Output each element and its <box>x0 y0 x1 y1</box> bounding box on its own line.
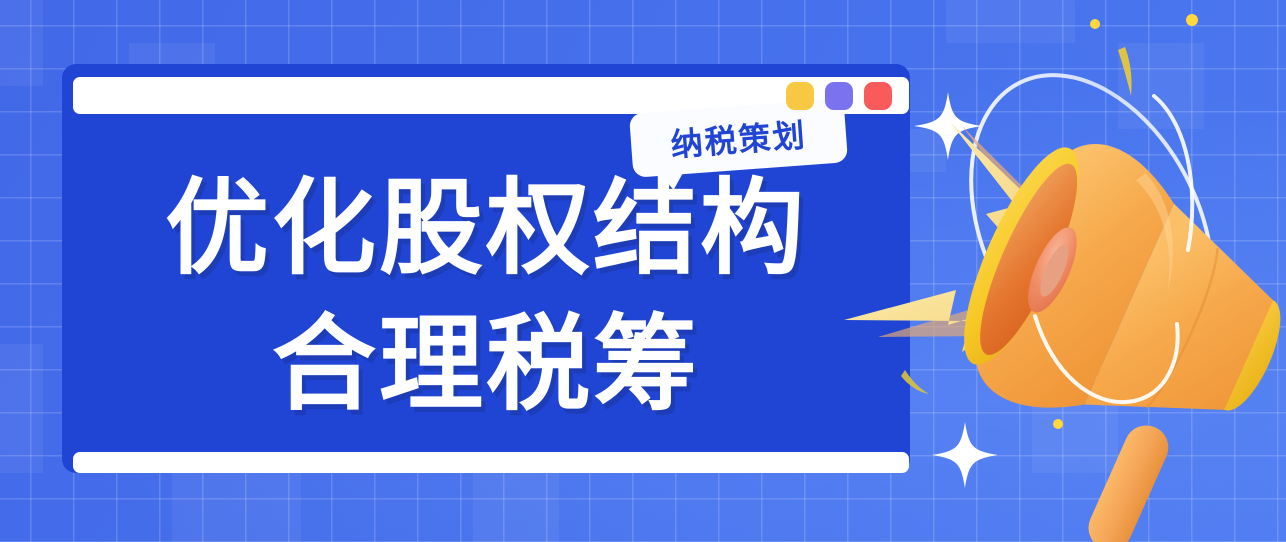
headline-line-2: 合理税筹 <box>62 308 910 420</box>
decorative-dots <box>786 82 892 110</box>
headline-block: 优化股权结构 合理税筹 <box>62 172 910 420</box>
dot-purple-icon <box>825 82 853 110</box>
dot-red-icon <box>864 82 892 110</box>
headline-line-1: 优化股权结构 <box>62 172 910 284</box>
panel-bottom-bar <box>73 452 909 473</box>
promo-banner: 优化股权结构 合理税筹 纳税策划 <box>0 0 1286 542</box>
dot-yellow-icon <box>786 82 814 110</box>
